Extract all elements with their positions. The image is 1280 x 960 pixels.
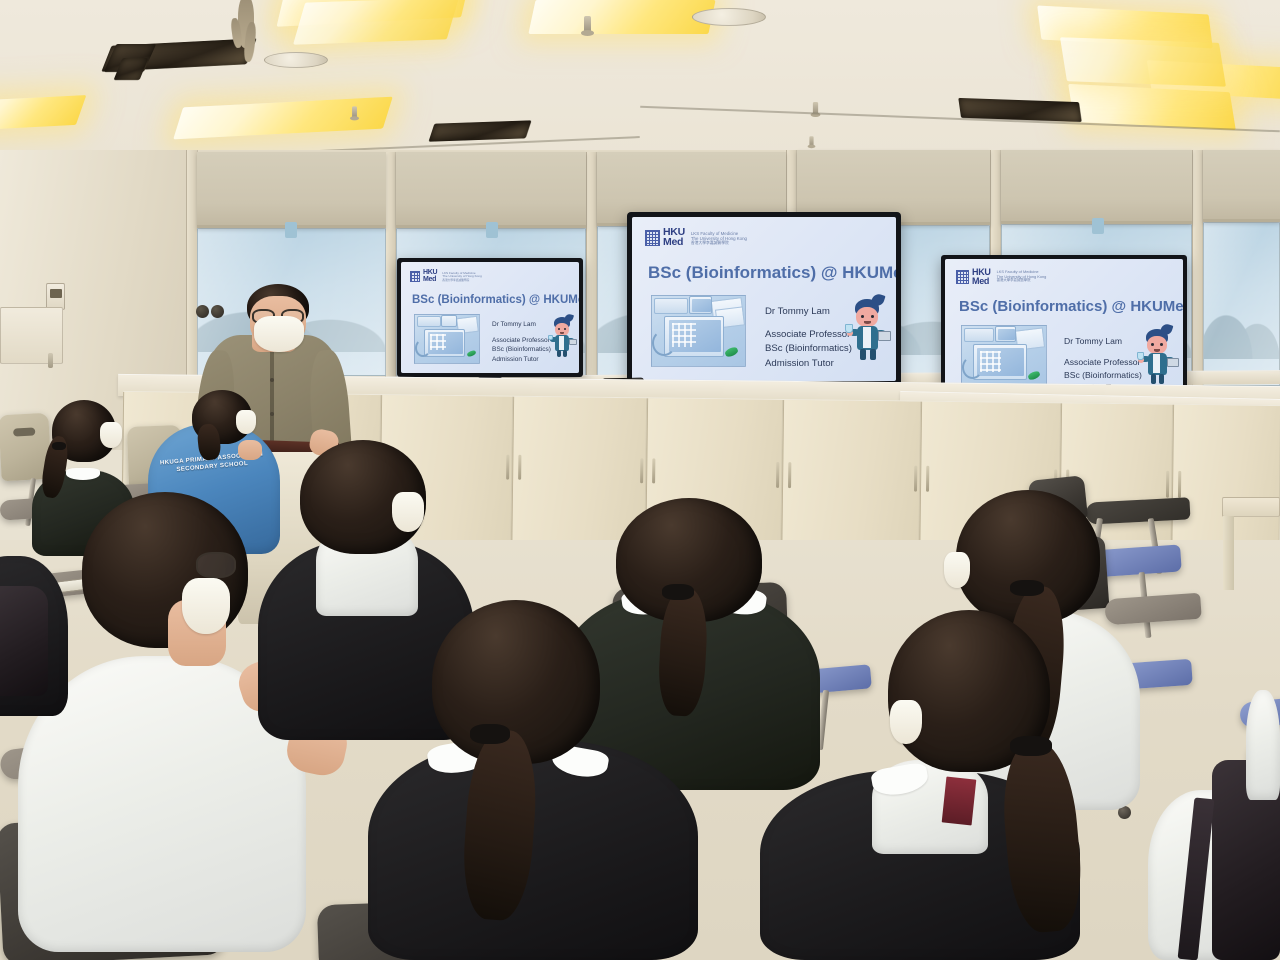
mascot-eye bbox=[1151, 343, 1154, 346]
presenter-shirt-button bbox=[270, 378, 274, 382]
staff-hand bbox=[238, 440, 262, 460]
left-slide: HKU Med LKS Faculty of Medicine The Univ… bbox=[401, 262, 579, 373]
mascot-leg bbox=[557, 350, 561, 357]
cabinet-handle[interactable] bbox=[518, 455, 521, 480]
slide-logo: HKU Med LKS Faculty of Medicine The Univ… bbox=[410, 270, 482, 283]
mascot-eye bbox=[1160, 343, 1163, 346]
speaker-role-3: Admission Tutor bbox=[492, 356, 539, 363]
ceiling-light-panel bbox=[293, 0, 459, 45]
photo-monitor-screen bbox=[692, 299, 711, 312]
wall-knob[interactable] bbox=[211, 305, 224, 318]
student-tie bbox=[942, 777, 977, 826]
mascot-eye bbox=[861, 315, 864, 318]
photo-monitor bbox=[995, 326, 1016, 342]
photo-screen-grid bbox=[980, 351, 1001, 372]
right-screen[interactable]: HKU Med LKS Faculty of Medicine The Univ… bbox=[941, 255, 1187, 401]
sprinkler-head bbox=[809, 136, 813, 146]
speaker-role-2: BSc (Bioinformatics) bbox=[765, 343, 852, 354]
mascot-icon bbox=[845, 297, 891, 363]
slide-photo bbox=[961, 325, 1047, 389]
mascot-eye bbox=[558, 328, 560, 330]
roller-blind bbox=[197, 152, 386, 228]
wall-knob[interactable] bbox=[196, 305, 209, 318]
classroom-scene: HKU Med LKS Faculty of Medicine The Univ… bbox=[0, 0, 1280, 960]
ceiling-light-panel bbox=[528, 0, 715, 34]
presenter-shirt-button bbox=[270, 412, 274, 416]
ponytail-tie bbox=[52, 442, 66, 450]
speaker-name: Dr Tommy Lam bbox=[492, 320, 551, 330]
ceiling-light-panel bbox=[0, 95, 86, 131]
mascot-mouth bbox=[864, 321, 871, 324]
mascot-laptop bbox=[569, 339, 577, 345]
slide-title: BSc (Bioinformatics) @ HKUMed bbox=[959, 298, 1183, 315]
cabinet-handle[interactable] bbox=[926, 466, 929, 492]
chair-hand-hole bbox=[13, 427, 35, 436]
student-collar bbox=[66, 468, 100, 480]
ceiling-vent-disc bbox=[692, 8, 766, 26]
student-glasses bbox=[196, 552, 236, 578]
speaker-name: Dr Tommy Lam bbox=[765, 305, 852, 319]
photo-green-capsule bbox=[466, 349, 476, 357]
mascot-mouth bbox=[560, 332, 564, 334]
ceiling-vent-disc bbox=[264, 52, 328, 68]
blind-pull-tab[interactable] bbox=[285, 222, 297, 238]
ceiling-light-panel bbox=[1060, 37, 1226, 86]
cabinet-handle[interactable] bbox=[652, 458, 655, 483]
window-pane bbox=[1203, 222, 1280, 386]
mascot-leg bbox=[563, 350, 567, 357]
student-face-mask bbox=[890, 700, 922, 744]
photo-green-capsule bbox=[1027, 370, 1041, 381]
presenter-face-mask bbox=[254, 316, 304, 352]
right-slide: HKU Med LKS Faculty of Medicine The Univ… bbox=[945, 259, 1183, 397]
speaker-role-1: Associate Professor bbox=[1064, 357, 1140, 367]
mascot-icon bbox=[547, 316, 577, 360]
slide-logo: HKU Med LKS Faculty of Medicine The Univ… bbox=[645, 228, 747, 248]
ponytail-tie bbox=[1010, 580, 1044, 596]
photo-green-capsule bbox=[724, 346, 739, 359]
wall-panel-handle bbox=[48, 353, 53, 368]
window-mullion bbox=[385, 152, 396, 382]
mascot-mouth bbox=[1154, 349, 1160, 352]
roller-blind bbox=[1001, 150, 1192, 224]
side-table-leg bbox=[1223, 516, 1234, 590]
student-face-mask bbox=[392, 492, 424, 532]
ceiling-light-panel bbox=[173, 97, 393, 140]
blind-pull-tab[interactable] bbox=[486, 222, 498, 238]
mascot-face bbox=[856, 307, 878, 327]
cabinet-handle[interactable] bbox=[776, 462, 779, 488]
wall-mounted-panel bbox=[0, 307, 63, 364]
sprinkler-head bbox=[352, 106, 357, 117]
photo-monitor bbox=[441, 315, 457, 327]
speaker-role-2: BSc (Bioinformatics) bbox=[492, 346, 551, 353]
mascot-leg bbox=[860, 349, 866, 360]
hku-crest-icon bbox=[410, 271, 420, 282]
photo-screen-grid bbox=[430, 334, 446, 350]
slide-speaker-block: Dr Tommy Lam Associate Professor BSc (Bi… bbox=[492, 320, 551, 365]
cabinet-handle[interactable] bbox=[914, 466, 917, 492]
blind-pull-tab[interactable] bbox=[1092, 218, 1104, 234]
logo-med-text: Med bbox=[972, 277, 991, 286]
mascot-test-tube bbox=[845, 324, 853, 333]
logo-med-text: Med bbox=[423, 277, 437, 284]
cabinet-handle[interactable] bbox=[1178, 471, 1181, 498]
logo-faculty-line3: 香港大學李嘉誠醫學院 bbox=[691, 241, 747, 245]
ponytail-tie bbox=[470, 724, 510, 744]
mascot-lab-coat bbox=[1153, 354, 1160, 373]
mascot-leg bbox=[1151, 374, 1156, 384]
speaker-role-1: Associate Professor bbox=[492, 337, 550, 344]
cabinet-handle[interactable] bbox=[640, 458, 643, 483]
staff-face-mask bbox=[236, 410, 256, 434]
mascot-lab-coat bbox=[863, 327, 871, 348]
ponytail-tie bbox=[662, 584, 694, 600]
side-table-top bbox=[1222, 497, 1280, 517]
hku-crest-icon bbox=[956, 270, 969, 284]
student-face-mask bbox=[182, 578, 230, 634]
cabinet-handle[interactable] bbox=[506, 455, 509, 480]
window-mullion bbox=[586, 152, 597, 382]
mascot-eye bbox=[564, 328, 566, 330]
student-face-mask bbox=[100, 422, 122, 448]
photo-stethoscope bbox=[415, 339, 431, 357]
roller-blind bbox=[1203, 150, 1280, 222]
cabinet-handle[interactable] bbox=[1166, 471, 1169, 498]
slide-photo bbox=[651, 295, 746, 367]
logo-med-text: Med bbox=[663, 238, 685, 248]
hku-crest-icon bbox=[645, 230, 660, 246]
logo-faculty-line3: 香港大學李嘉誠醫學院 bbox=[442, 279, 482, 282]
slide-title: BSc (Bioinformatics) @ HKUMed bbox=[412, 294, 579, 306]
speaker-role-3: Admission Tutor bbox=[765, 358, 834, 369]
speaker-role-1: Associate Professor bbox=[765, 329, 850, 340]
photo-stethoscope bbox=[652, 330, 676, 356]
mascot-leg bbox=[870, 349, 876, 360]
backpack[interactable] bbox=[0, 586, 48, 696]
sprinkler-head bbox=[584, 16, 591, 32]
photo-monitor-screen bbox=[998, 329, 1015, 340]
photo-keyboard bbox=[964, 328, 994, 342]
slide-title: BSc (Bioinformatics) @ HKUMed bbox=[648, 263, 896, 283]
student-torso bbox=[1246, 690, 1280, 800]
mascot-laptop bbox=[878, 331, 891, 341]
roller-blind bbox=[396, 152, 586, 228]
photo-monitor bbox=[689, 296, 712, 314]
mascot-test-tube bbox=[548, 335, 553, 340]
wall-switch-plate[interactable] bbox=[46, 283, 65, 310]
cabinet-handle[interactable] bbox=[788, 462, 791, 488]
logo-faculty-line3: 香港大學李嘉誠醫學院 bbox=[997, 279, 1047, 283]
speaker-name: Dr Tommy Lam bbox=[1064, 335, 1142, 348]
photo-keyboard bbox=[654, 298, 688, 314]
mascot-lab-coat bbox=[559, 336, 564, 350]
slide-photo bbox=[414, 314, 480, 364]
mascot-eye bbox=[871, 315, 874, 318]
slide-speaker-block: Dr Tommy Lam Associate Professor BSc (Bi… bbox=[765, 305, 852, 371]
window-glare bbox=[1204, 223, 1279, 385]
mascot-test-tube bbox=[1137, 352, 1144, 360]
window-mullion bbox=[1192, 150, 1203, 390]
ceiling-open-tile bbox=[428, 120, 531, 141]
slide-logo: HKU Med LKS Faculty of Medicine The Univ… bbox=[956, 268, 1046, 285]
student-face-mask bbox=[944, 552, 970, 588]
center-screen[interactable]: HKU Med LKS Faculty of Medicine The Univ… bbox=[627, 212, 901, 386]
photo-stethoscope bbox=[962, 356, 983, 379]
ponytail-tie bbox=[1010, 736, 1052, 756]
center-slide: HKU Med LKS Faculty of Medicine The Univ… bbox=[632, 217, 896, 381]
mascot-leg bbox=[1159, 374, 1164, 384]
mascot-icon bbox=[1137, 327, 1179, 387]
speaker-role-2: BSc (Bioinformatics) bbox=[1064, 370, 1142, 380]
left-screen[interactable]: HKU Med LKS Faculty of Medicine The Univ… bbox=[397, 258, 583, 377]
photo-keyboard bbox=[417, 316, 441, 327]
mascot-laptop bbox=[1167, 358, 1179, 367]
